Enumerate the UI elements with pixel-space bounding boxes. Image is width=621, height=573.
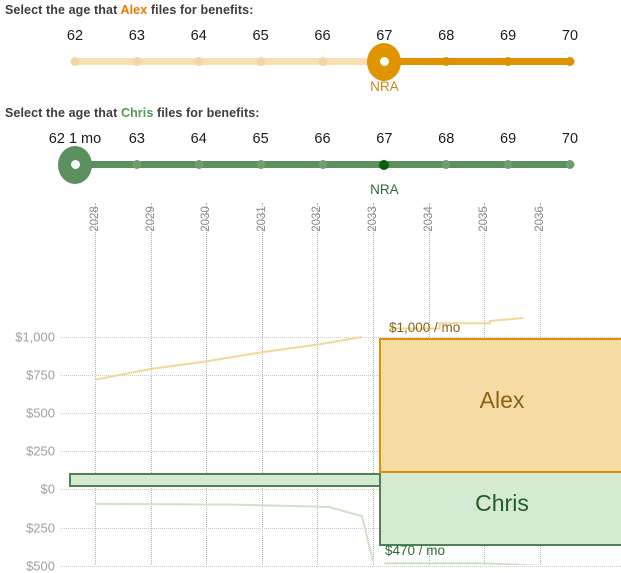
- slider-tick-dot[interactable]: [442, 57, 451, 66]
- alex-area-label: Alex: [381, 387, 621, 414]
- y-axis-label: $250: [26, 444, 55, 459]
- y-axis-label: $0: [41, 482, 55, 497]
- y-axis-label: $500: [26, 406, 55, 421]
- slider-tick-label-64[interactable]: 64: [191, 28, 207, 44]
- x-axis-label-2034: 2034: [423, 206, 435, 232]
- x-axis-label-2029: 2029: [145, 206, 157, 232]
- slider-tick-dot[interactable]: [318, 57, 327, 66]
- gridline-vertical: [206, 203, 207, 565]
- nra-marker-chris: NRA: [370, 182, 399, 197]
- slider-tick-dot[interactable]: [132, 57, 141, 66]
- prompt-alex-name: Alex: [120, 3, 147, 17]
- chris-benefit-band: [69, 473, 381, 487]
- alex-benefit-area: Alex: [379, 338, 621, 473]
- prompt-alex: Select the age that Alex files for benef…: [5, 3, 253, 17]
- nra-marker-alex: NRA: [370, 79, 399, 94]
- y-axis-label: $500: [26, 558, 55, 573]
- preview-line: [95, 504, 373, 561]
- prompt-alex-post: files for benefits:: [147, 3, 253, 17]
- preview-line: [95, 337, 362, 380]
- x-axis-label-2031: 2031: [256, 206, 268, 232]
- slider-tick-dot[interactable]: [379, 160, 389, 170]
- gridline-vertical: [317, 203, 318, 565]
- slider-tick-label-68[interactable]: 68: [438, 131, 454, 147]
- prompt-chris-name: Chris: [121, 106, 153, 120]
- slider-handle-pin: [71, 160, 80, 169]
- chris-benefit-value: $470 / mo: [385, 543, 445, 558]
- x-axis-label-2028: 2028: [89, 206, 101, 232]
- gridline-vertical: [95, 203, 96, 565]
- slider-tick-dot[interactable]: [504, 57, 513, 66]
- slider-tick-dot[interactable]: [256, 57, 265, 66]
- x-axis-label-2033: 2033: [367, 206, 379, 232]
- slider-tick-label-63[interactable]: 63: [129, 28, 145, 44]
- slider-tick-label-70[interactable]: 70: [562, 131, 578, 147]
- slider-tick-dot[interactable]: [132, 160, 141, 169]
- slider-handle-chris[interactable]: [58, 146, 92, 184]
- gridline-vertical: [373, 203, 374, 565]
- slider-tick-label-66[interactable]: 66: [314, 131, 330, 147]
- slider-handle-pin: [380, 57, 389, 66]
- slider-tick-dot[interactable]: [194, 160, 203, 169]
- slider-tick-dot[interactable]: [566, 160, 575, 169]
- slider-tick-dot[interactable]: [194, 57, 203, 66]
- slider-tick-label-62[interactable]: 62: [67, 28, 83, 44]
- slider-tick-label-68[interactable]: 68: [438, 28, 454, 44]
- x-axis-label-2036: 2036: [534, 206, 546, 232]
- slider-tick-label-70[interactable]: 70: [562, 28, 578, 44]
- prompt-chris-post: files for benefits:: [153, 106, 259, 120]
- age-slider-alex[interactable]: 626364656667686970 NRA: [0, 28, 621, 100]
- gridline-vertical: [151, 203, 152, 565]
- slider-tick-label-67[interactable]: 67: [376, 131, 392, 147]
- benefits-timing-panel: Select the age that Alex files for benef…: [0, 0, 621, 565]
- slider-tick-label-63[interactable]: 63: [129, 131, 145, 147]
- gridline-horizontal: [60, 566, 621, 567]
- slider-track-alex-active[interactable]: [380, 58, 570, 65]
- x-axis-label-2032: 2032: [311, 206, 323, 232]
- slider-tick-dot[interactable]: [504, 160, 513, 169]
- prompt-alex-pre: Select the age that: [5, 3, 120, 17]
- slider-tick-label-66[interactable]: 66: [314, 28, 330, 44]
- slider-tick-dot[interactable]: [71, 57, 80, 66]
- slider-tick-label-65[interactable]: 65: [253, 131, 269, 147]
- y-axis-label: $250: [26, 520, 55, 535]
- gridline-vertical: [262, 203, 263, 565]
- age-slider-chris[interactable]: 62 1 mo6364656667686970 NRA: [0, 131, 621, 203]
- x-axis-label-2030: 2030: [200, 206, 212, 232]
- slider-tick-label-64[interactable]: 64: [191, 131, 207, 147]
- slider-tick-dot[interactable]: [566, 57, 575, 66]
- x-axis-label-2035: 2035: [478, 206, 490, 232]
- slider-tick-dot[interactable]: [318, 160, 327, 169]
- prompt-chris: Select the age that Chris files for bene…: [5, 106, 260, 120]
- prompt-chris-pre: Select the age that: [5, 106, 121, 120]
- slider-tick-dot[interactable]: [256, 160, 265, 169]
- slider-handle-alex[interactable]: [367, 43, 401, 81]
- chris-benefit-area: Chris: [379, 473, 621, 546]
- alex-benefit-value: $1,000 / mo: [389, 320, 460, 335]
- slider-tick-label-69[interactable]: 69: [500, 131, 516, 147]
- chris-area-label: Chris: [381, 490, 621, 517]
- slider-tick-label-69[interactable]: 69: [500, 28, 516, 44]
- slider-tick-label-65[interactable]: 65: [253, 28, 269, 44]
- y-axis-label: $750: [26, 368, 55, 383]
- slider-tick-dot[interactable]: [442, 160, 451, 169]
- y-axis-label: $1,000: [15, 330, 55, 345]
